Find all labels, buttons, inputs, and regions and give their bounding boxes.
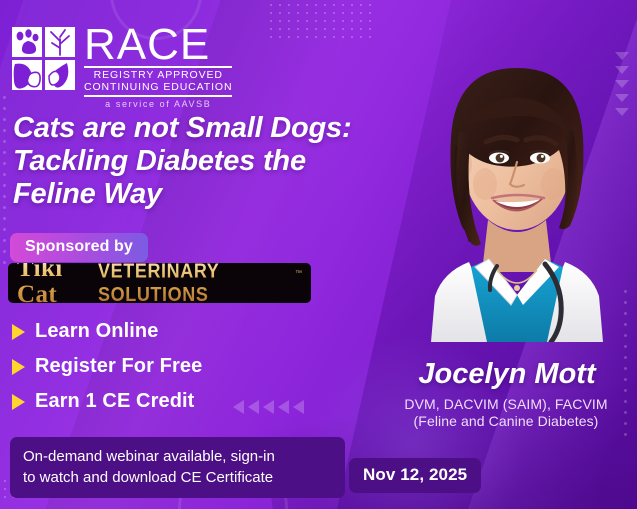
- triangle-right-icon: [12, 324, 25, 340]
- ondemand-notice: On-demand webinar available, sign-in to …: [10, 437, 345, 498]
- speaker-credentials-line: DVM, DACVIM (SAIM), FACVIM: [370, 396, 637, 413]
- sponsor-brand-name: Tiki Cat: [17, 263, 91, 303]
- sponsor-brand-tagline: VETERINARY SOLUTIONS: [98, 263, 288, 303]
- race-subtitle-line2: CONTINUING EDUCATION: [84, 82, 232, 94]
- race-subtitle-line1: REGISTRY APPROVED: [84, 70, 232, 82]
- headline-line-1: Cats are not Small Dogs:: [13, 112, 383, 145]
- fish-leaf-icon: [45, 60, 75, 90]
- background-right-streak: [427, 0, 637, 509]
- abstract-animal-icon: [12, 60, 42, 90]
- speaker-specialty-line: (Feline and Canine Diabetes): [370, 413, 637, 430]
- sponsor-logo: Tiki Cat VETERINARY SOLUTIONS ™: [8, 263, 311, 303]
- triangle-right-icon: [12, 359, 25, 375]
- ondemand-line-2: to watch and download CE Certificate: [23, 467, 332, 488]
- background-right-wedge: [337, 0, 637, 509]
- list-item: Earn 1 CE Credit: [12, 390, 202, 413]
- page-title: Cats are not Small Dogs: Tackling Diabet…: [13, 112, 383, 211]
- ondemand-line-1: On-demand webinar available, sign-in: [23, 446, 332, 467]
- speaker-name: Jocelyn Mott: [383, 358, 631, 391]
- benefit-label: Earn 1 CE Credit: [35, 390, 194, 413]
- chevron-down-icon-group: [615, 52, 629, 122]
- race-title: RACE: [84, 27, 232, 63]
- race-divider-2: [84, 95, 232, 97]
- race-logo: RACE REGISTRY APPROVED CONTINUING EDUCAT…: [12, 27, 232, 109]
- benefit-label: Learn Online: [35, 320, 158, 343]
- webinar-promo-banner: RACE REGISTRY APPROVED CONTINUING EDUCAT…: [0, 0, 637, 509]
- speaker-portrait: [393, 12, 637, 342]
- list-item: Learn Online: [12, 320, 202, 343]
- race-subtitle-line3: a service of AAVSB: [84, 99, 232, 109]
- benefit-label: Register For Free: [35, 355, 202, 378]
- race-wordmark: RACE REGISTRY APPROVED CONTINUING EDUCAT…: [84, 27, 232, 109]
- headline-line-3: Feline Way: [13, 178, 383, 211]
- chevron-left-icon-group: [233, 400, 304, 414]
- sponsored-by-badge: Sponsored by: [10, 233, 148, 262]
- paw-print-icon: [12, 27, 42, 57]
- date-badge: Nov 12, 2025: [349, 458, 481, 493]
- plant-leaf-icon: [45, 27, 75, 57]
- triangle-right-icon: [12, 394, 25, 410]
- race-divider-1: [84, 66, 232, 68]
- trademark-symbol: ™: [295, 270, 302, 277]
- list-item: Register For Free: [12, 355, 202, 378]
- speaker-credentials: DVM, DACVIM (SAIM), FACVIM (Feline and C…: [370, 396, 637, 430]
- race-logo-tiles: [12, 27, 75, 90]
- benefits-list: Learn Online Register For Free Earn 1 CE…: [12, 320, 202, 425]
- headline-line-2: Tackling Diabetes the: [13, 145, 383, 178]
- background-portrait-circle: [384, 28, 637, 296]
